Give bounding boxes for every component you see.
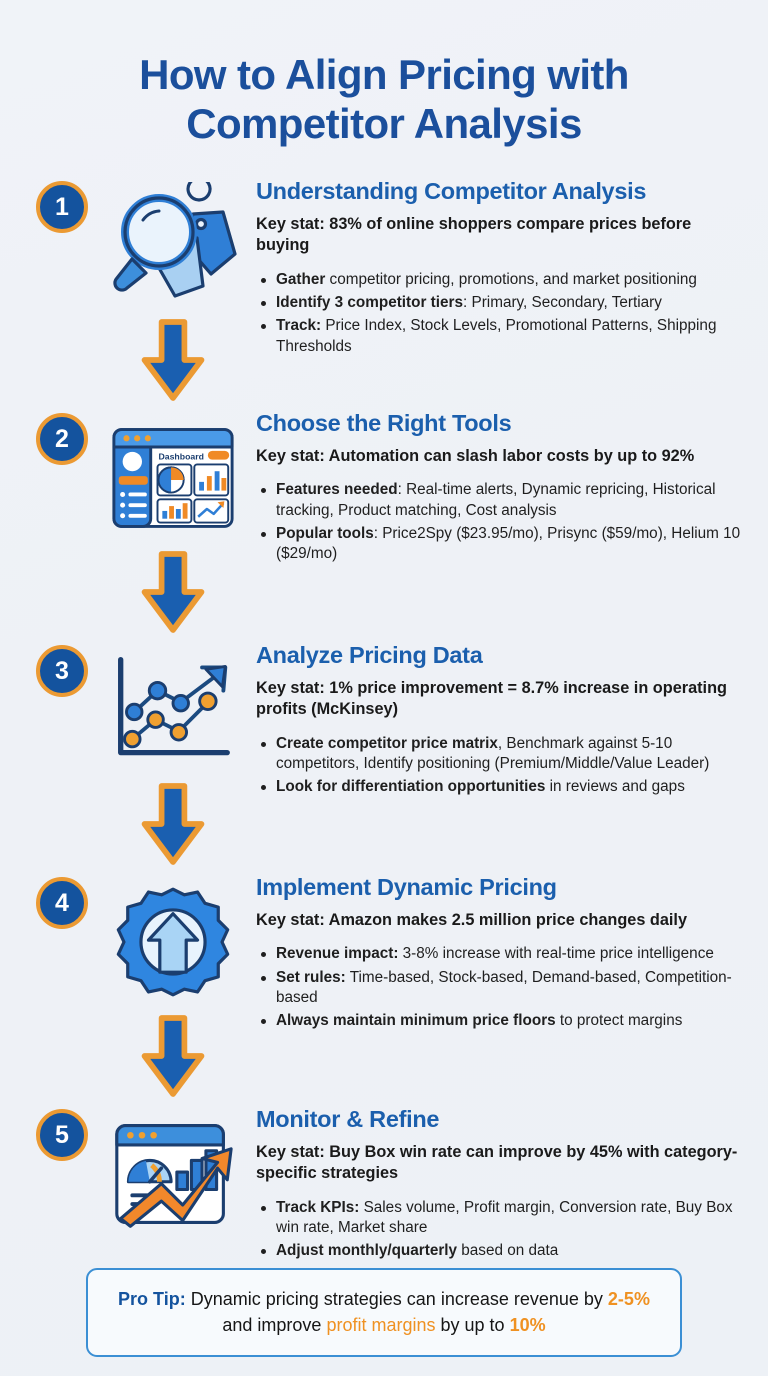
pro-tip-label: Pro Tip:	[118, 1289, 186, 1309]
step-badge-column: 1	[36, 174, 98, 233]
infographic-page: How to Align Pricing with Competitor Ana…	[0, 0, 768, 1376]
step-text-column: Choose the Right Tools Key stat: Automat…	[248, 406, 746, 568]
pro-tip-text-3: by up to	[436, 1315, 510, 1335]
list-item: Identify 3 competitor tiers: Primary, Se…	[256, 293, 746, 313]
step-badge-column: 4	[36, 870, 98, 929]
list-item: Set rules: Time-based, Stock-based, Dema…	[256, 968, 746, 1009]
step-badge-column: 3	[36, 638, 98, 697]
step-icon-column	[98, 174, 248, 406]
step-title: Implement Dynamic Pricing	[256, 874, 746, 901]
step-keystat: Key stat: 83% of online shoppers compare…	[256, 214, 746, 256]
step-text-column: Monitor & Refine Key stat: Buy Box win r…	[248, 1102, 746, 1264]
dashboard-window-icon: Dashboard	[103, 414, 243, 542]
step-badge-column: 5	[36, 1102, 98, 1161]
step-connector-arrow-4	[135, 1010, 211, 1102]
pro-tip-highlight-revenue: 2-5%	[608, 1289, 650, 1309]
gear-up-arrow-icon	[103, 878, 243, 1006]
step-title: Analyze Pricing Data	[256, 642, 746, 669]
list-item: Track KPIs: Sales volume, Profit margin,…	[256, 1198, 746, 1239]
step-connector-arrow-3	[135, 778, 211, 870]
step-keystat: Key stat: Amazon makes 2.5 million price…	[256, 910, 746, 931]
step-bullet-list: Features needed: Real-time alerts, Dynam…	[256, 480, 746, 564]
step-item: 1	[0, 174, 768, 406]
pro-tip-highlight-percent: 10%	[510, 1315, 546, 1335]
pro-tip-box: Pro Tip: Dynamic pricing strategies can …	[86, 1268, 682, 1357]
step-badge-column: 2	[36, 406, 98, 465]
step-number-badge: 1	[36, 181, 88, 233]
step-text-column: Implement Dynamic Pricing Key stat: Amaz…	[248, 870, 746, 1035]
list-item: Revenue impact: 3-8% increase with real-…	[256, 944, 746, 964]
step-bullet-list: Gather competitor pricing, promotions, a…	[256, 270, 746, 357]
list-item: Look for differentiation opportunities i…	[256, 777, 746, 797]
list-item: Gather competitor pricing, promotions, a…	[256, 270, 746, 290]
step-title: Monitor & Refine	[256, 1106, 746, 1133]
steps-list: 1	[0, 174, 768, 1264]
page-title: How to Align Pricing with Competitor Ana…	[0, 0, 768, 148]
step-keystat: Key stat: Automation can slash labor cos…	[256, 446, 746, 467]
step-keystat: Key stat: Buy Box win rate can improve b…	[256, 1142, 746, 1184]
step-number-badge: 4	[36, 877, 88, 929]
step-bullet-list: Track KPIs: Sales volume, Profit margin,…	[256, 1198, 746, 1262]
dashboard-label-text: Dashboard	[158, 452, 203, 462]
step-bullet-list: Create competitor price matrix, Benchmar…	[256, 734, 746, 798]
step-keystat: Key stat: 1% price improvement = 8.7% in…	[256, 678, 746, 720]
step-title: Choose the Right Tools	[256, 410, 746, 437]
step-title: Understanding Competitor Analysis	[256, 178, 746, 205]
step-item: 5	[0, 1102, 768, 1264]
line-chart-axes-icon	[103, 646, 243, 774]
list-item: Create competitor price matrix, Benchmar…	[256, 734, 746, 775]
step-text-column: Understanding Competitor Analysis Key st…	[248, 174, 746, 360]
pro-tip-text-2: and improve	[222, 1315, 326, 1335]
list-item: Track: Price Index, Stock Levels, Promot…	[256, 316, 746, 357]
step-icon-column: Dashboard	[98, 406, 248, 638]
step-number-badge: 3	[36, 645, 88, 697]
list-item: Adjust monthly/quarterly based on data	[256, 1241, 746, 1261]
step-connector-arrow-2	[135, 546, 211, 638]
page-title-text: How to Align Pricing with Competitor Ana…	[54, 50, 714, 148]
step-item: 2	[0, 406, 768, 638]
list-item: Always maintain minimum price floors to …	[256, 1011, 746, 1031]
step-item: 3	[0, 638, 768, 870]
step-number-badge: 5	[36, 1109, 88, 1161]
step-number-badge: 2	[36, 413, 88, 465]
step-icon-column	[98, 638, 248, 870]
step-item: 4	[0, 870, 768, 1102]
step-icon-column	[98, 870, 248, 1102]
list-item: Features needed: Real-time alerts, Dynam…	[256, 480, 746, 521]
magnifier-price-tags-icon	[103, 182, 243, 310]
pro-tip-text-1: Dynamic pricing strategies can increase …	[186, 1289, 608, 1309]
pro-tip-highlight-margins: profit margins	[326, 1315, 435, 1335]
step-text-column: Analyze Pricing Data Key stat: 1% price …	[248, 638, 746, 800]
step-icon-column	[98, 1102, 248, 1238]
step-connector-arrow-1	[135, 314, 211, 406]
monitor-growth-arrow-icon	[103, 1110, 243, 1238]
list-item: Popular tools: Price2Spy ($23.95/mo), Pr…	[256, 524, 746, 565]
step-bullet-list: Revenue impact: 3-8% increase with real-…	[256, 944, 746, 1031]
